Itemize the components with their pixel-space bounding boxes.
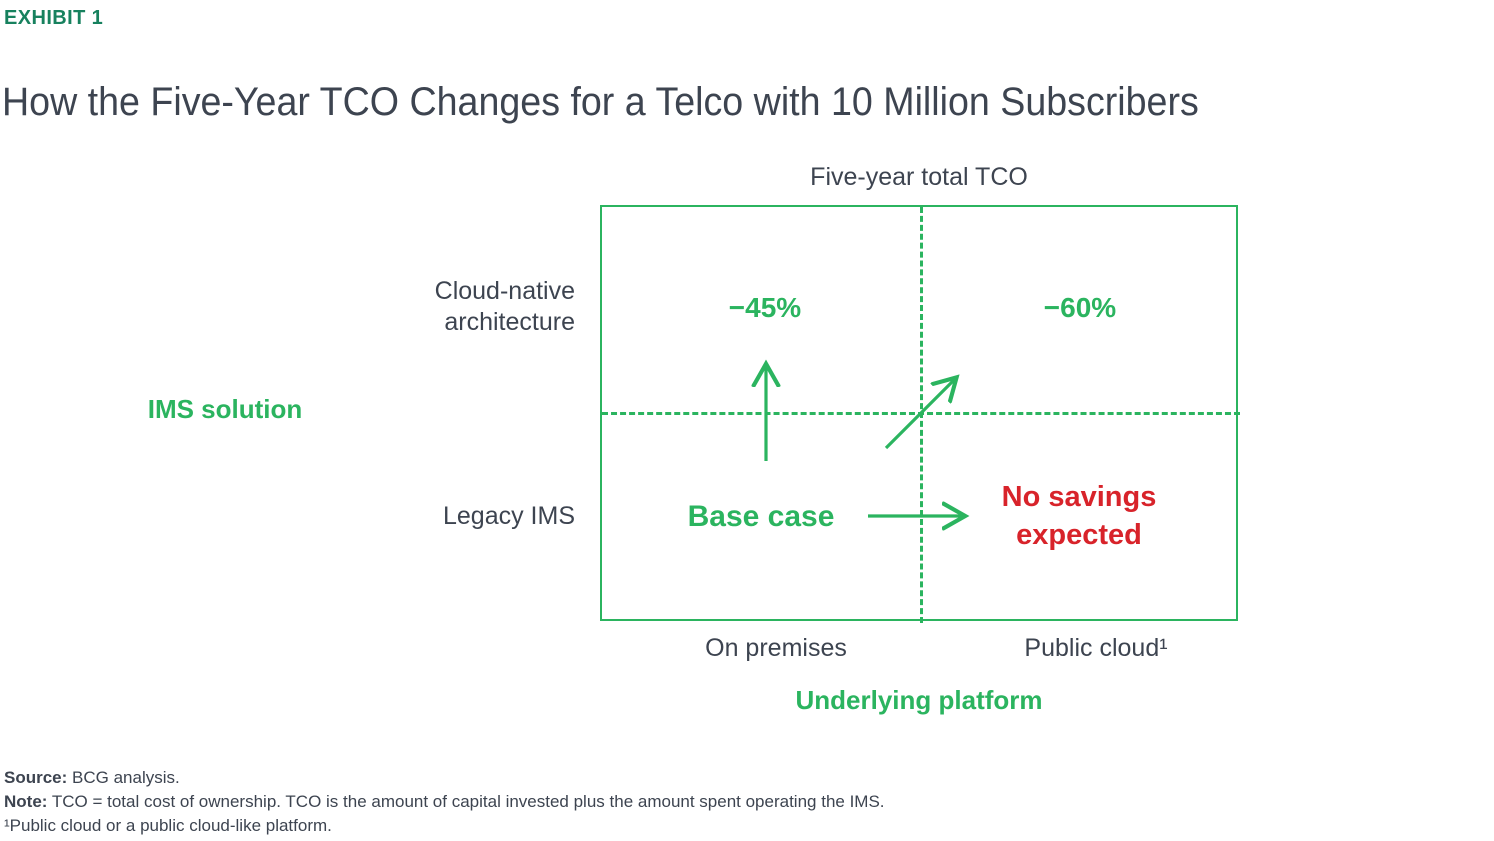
footnote-source: Source: BCG analysis. [4,766,1484,790]
row-label-cloud-native-line1: Cloud-native [300,276,575,307]
cell-value-publiccloud-legacy: No savings expected [955,478,1203,554]
row-label-cloud-native-line2: architecture [300,307,575,338]
column-label-public-cloud: Public cloud¹ [960,633,1232,664]
footnote-note: Note: TCO = total cost of ownership. TCO… [4,790,1484,814]
footnote-source-text: BCG analysis. [67,768,179,787]
footnote-source-label: Source: [4,768,67,787]
quadrant-divider-vertical [920,207,923,623]
footnote-note-label: Note: [4,792,47,811]
row-label-cloud-native: Cloud-native architecture [300,276,575,338]
footnote-note-text: TCO = total cost of ownership. TCO is th… [47,792,884,811]
footnotes: Source: BCG analysis. Note: TCO = total … [4,766,1484,838]
chart-top-axis-title: Five-year total TCO [600,162,1238,192]
cell-value-onpremises-legacy: Base case [636,500,886,534]
row-label-legacy-ims: Legacy IMS [300,501,575,532]
cell-value-publiccloud-legacy-line1: No savings [955,478,1203,516]
chart-left-axis-title: IMS solution [60,393,390,425]
cell-value-publiccloud-legacy-line2: expected [955,516,1203,554]
quadrant-frame [600,205,1238,621]
cell-value-publiccloud-cloudnative: −60% [955,292,1205,324]
column-label-on-premises: On premises [640,633,912,664]
chart-area: Five-year total TCO Cloud-native archite… [0,0,1494,760]
chart-bottom-axis-title: Underlying platform [600,684,1238,716]
footnote-1: ¹Public cloud or a public cloud-like pla… [4,814,1484,838]
cell-value-onpremises-cloudnative: −45% [640,292,890,324]
quadrant-divider-horizontal [602,412,1240,415]
